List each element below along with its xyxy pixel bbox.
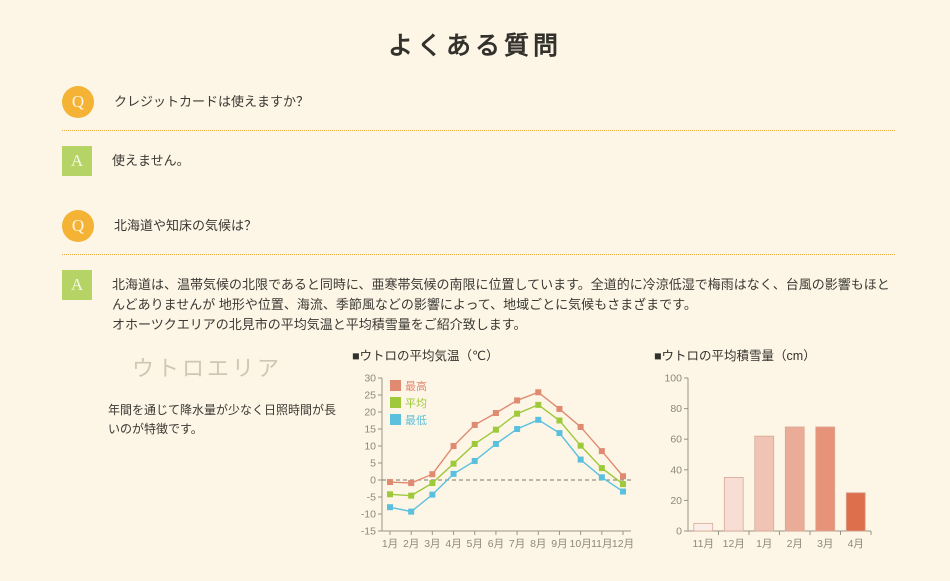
faq-question-line: 北海道や知床の気候は？ [114, 216, 257, 236]
page-title: よくある質問 [0, 0, 950, 62]
svg-text:30: 30 [364, 373, 376, 385]
svg-text:最低: 最低 [405, 414, 427, 427]
area-description-line: いのが特徴です。 [108, 420, 342, 439]
svg-text:2月: 2月 [787, 538, 803, 550]
faq-section: Q クレジットカードは使えますか？ A 使えません。 Q 北海道や知床の気候は？… [0, 86, 950, 335]
svg-text:-15: -15 [361, 526, 376, 538]
svg-text:5月: 5月 [467, 538, 483, 550]
svg-text:2月: 2月 [403, 538, 419, 550]
temperature-chart-container: ■ウトロの平均気温（℃） 302520151050-5-10-151月2月3月4… [352, 345, 642, 555]
svg-text:8月: 8月 [530, 538, 546, 550]
faq-block: Q 北海道や知床の気候は？ A 北海道は、温帯気候の北限であると同時に、亜寒帯気… [62, 210, 895, 335]
faq-answer-line: オホーツクエリアの北見市の平均気温と平均積雪量をご紹介致します。 [112, 315, 890, 335]
question-badge: Q [62, 210, 94, 242]
svg-text:4月: 4月 [848, 538, 864, 550]
svg-text:-10: -10 [361, 509, 376, 521]
svg-text:1月: 1月 [382, 538, 398, 550]
area-title: ウトロエリア [62, 351, 352, 383]
faq-answer-row: A 北海道は、温帯気候の北限であると同時に、亜寒帯気候の南限に位置しています。全… [62, 255, 895, 335]
faq-question-text: 北海道や知床の気候は？ [114, 210, 257, 236]
svg-text:15: 15 [364, 424, 376, 436]
area-column: ウトロエリア 年間を通じて降水量が少なく日照時間が長 いのが特徴です。 [62, 345, 352, 439]
faq-answer-line: 北海道は、温帯気候の北限であると同時に、亜寒帯気候の南限に位置しています。全道的… [112, 275, 890, 295]
svg-text:20: 20 [364, 407, 376, 419]
svg-text:80: 80 [670, 403, 682, 415]
faq-question-line: クレジットカードは使えますか？ [114, 92, 309, 112]
question-badge: Q [62, 86, 94, 118]
svg-text:9月: 9月 [551, 538, 567, 550]
svg-text:12月: 12月 [612, 538, 634, 550]
snow-chart-container: ■ウトロの平均積雪量（cm） 10080604020011月12月1月2月3月4… [654, 345, 884, 555]
svg-text:11月: 11月 [591, 538, 612, 550]
answer-badge: A [62, 146, 92, 176]
svg-text:12月: 12月 [723, 538, 745, 550]
svg-text:1月: 1月 [756, 538, 772, 550]
temperature-chart-title: ■ウトロの平均気温（℃） [352, 345, 642, 364]
area-description: 年間を通じて降水量が少なく日照時間が長 いのが特徴です。 [62, 401, 352, 439]
svg-text:40: 40 [670, 464, 682, 476]
faq-answer-text: 使えません。 [112, 145, 190, 171]
svg-text:100: 100 [664, 373, 682, 385]
snow-bar-chart: 10080604020011月12月1月2月3月4月 [654, 370, 879, 555]
svg-text:10: 10 [364, 441, 376, 453]
svg-text:6月: 6月 [488, 538, 504, 550]
svg-text:平均: 平均 [405, 397, 427, 410]
svg-text:4月: 4月 [445, 538, 461, 550]
faq-question-row[interactable]: Q 北海道や知床の気候は？ [62, 210, 895, 254]
svg-text:11月: 11月 [693, 538, 714, 550]
faq-answer-row: A 使えません。 [62, 131, 895, 176]
faq-block: Q クレジットカードは使えますか？ A 使えません。 [62, 86, 895, 176]
faq-question-row[interactable]: Q クレジットカードは使えますか？ [62, 86, 895, 130]
faq-question-text: クレジットカードは使えますか？ [114, 86, 309, 112]
answer-badge: A [62, 270, 92, 300]
snow-chart-title: ■ウトロの平均積雪量（cm） [654, 345, 884, 364]
svg-text:5: 5 [370, 458, 376, 470]
svg-text:0: 0 [370, 475, 376, 487]
climate-section: ウトロエリア 年間を通じて降水量が少なく日照時間が長 いのが特徴です。 ■ウトロ… [0, 335, 950, 555]
svg-text:3月: 3月 [424, 538, 440, 550]
faq-answer-line: 使えません。 [112, 151, 190, 171]
svg-text:3月: 3月 [817, 538, 833, 550]
area-description-line: 年間を通じて降水量が少なく日照時間が長 [108, 401, 342, 420]
svg-text:0: 0 [676, 526, 682, 538]
svg-text:-5: -5 [367, 492, 376, 504]
svg-text:7月: 7月 [509, 538, 525, 550]
faq-answer-line: んどありませんが 地形や位置、海流、季節風などの影響によって、地域ごとに気候もさ… [112, 295, 890, 315]
temperature-line-chart: 302520151050-5-10-151月2月3月4月5月6月7月8月9月10… [352, 370, 637, 555]
svg-text:10月: 10月 [570, 538, 592, 550]
svg-text:60: 60 [670, 434, 682, 446]
svg-text:20: 20 [670, 495, 682, 507]
svg-text:25: 25 [364, 390, 376, 402]
faq-answer-text: 北海道は、温帯気候の北限であると同時に、亜寒帯気候の南限に位置しています。全道的… [112, 269, 890, 335]
svg-text:最高: 最高 [405, 379, 427, 393]
